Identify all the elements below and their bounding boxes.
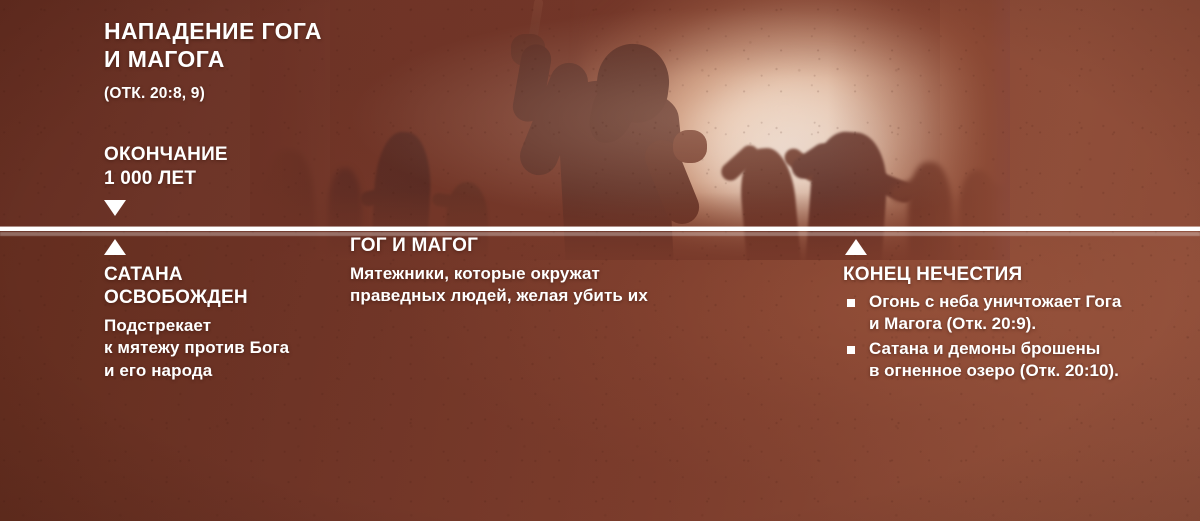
body-line-1: Мятежники, которые окружат [350,263,810,285]
end-label-line-1: ОКОНЧАНИЕ [104,143,404,167]
body-line-1: Подстрекает [104,315,354,337]
column-satan-released: САТАНА ОСВОБОЖДЕН Подстрекает к мятежу п… [104,263,354,382]
column-heading: КОНЕЦ НЕЧЕСТИЯ [843,263,1188,286]
millennium-end-label: ОКОНЧАНИЕ 1 000 ЛЕТ [104,143,404,190]
timeline-poster: НАПАДЕНИЕ ГОГА И МАГОГА (ОТК. 20:8, 9) О… [0,0,1200,521]
bullet-line-2: в огненное озеро (Отк. 20:10). [869,360,1188,382]
bullet-line-1: Огонь с неба уничтожает Гога [869,291,1188,313]
title-line-2: И МАГОГА [104,46,444,74]
scripture-reference: (ОТК. 20:8, 9) [104,85,205,103]
body-line-2: праведных людей, желая убить их [350,285,810,307]
column-gog-and-magog: ГОГ И МАГОГ Мятежники, которые окружат п… [350,234,810,307]
triangle-up-icon [845,239,867,255]
column-body: Мятежники, которые окружат праведных люд… [350,263,810,307]
heading-line-1: САТАНА [104,263,354,286]
column-body: Подстрекает к мятежу против Бога и его н… [104,315,354,381]
bullet-line-2: и Магога (Отк. 20:9). [869,313,1188,335]
list-item: Сатана и демоны брошены в огненное озеро… [843,338,1188,382]
body-line-3: и его народа [104,360,354,382]
column-end-of-wickedness: КОНЕЦ НЕЧЕСТИЯ Огонь с неба уничтожает Г… [843,263,1188,386]
page-title: НАПАДЕНИЕ ГОГА И МАГОГА [104,18,444,73]
bullet-list: Огонь с неба уничтожает Гога и Магога (О… [843,291,1188,382]
list-item: Огонь с неба уничтожает Гога и Магога (О… [843,291,1188,335]
column-heading: САТАНА ОСВОБОЖДЕН [104,263,354,309]
column-heading: ГОГ И МАГОГ [350,234,810,257]
bullet-square-icon [847,299,855,307]
triangle-down-icon [104,200,126,216]
text-layer: НАПАДЕНИЕ ГОГА И МАГОГА (ОТК. 20:8, 9) О… [0,0,1200,521]
heading-line-2: ОСВОБОЖДЕН [104,286,354,309]
triangle-up-icon [104,239,126,255]
bullet-square-icon [847,346,855,354]
body-line-2: к мятежу против Бога [104,337,354,359]
bullet-line-1: Сатана и демоны брошены [869,338,1188,360]
title-line-1: НАПАДЕНИЕ ГОГА [104,18,444,46]
end-label-line-2: 1 000 ЛЕТ [104,167,404,191]
